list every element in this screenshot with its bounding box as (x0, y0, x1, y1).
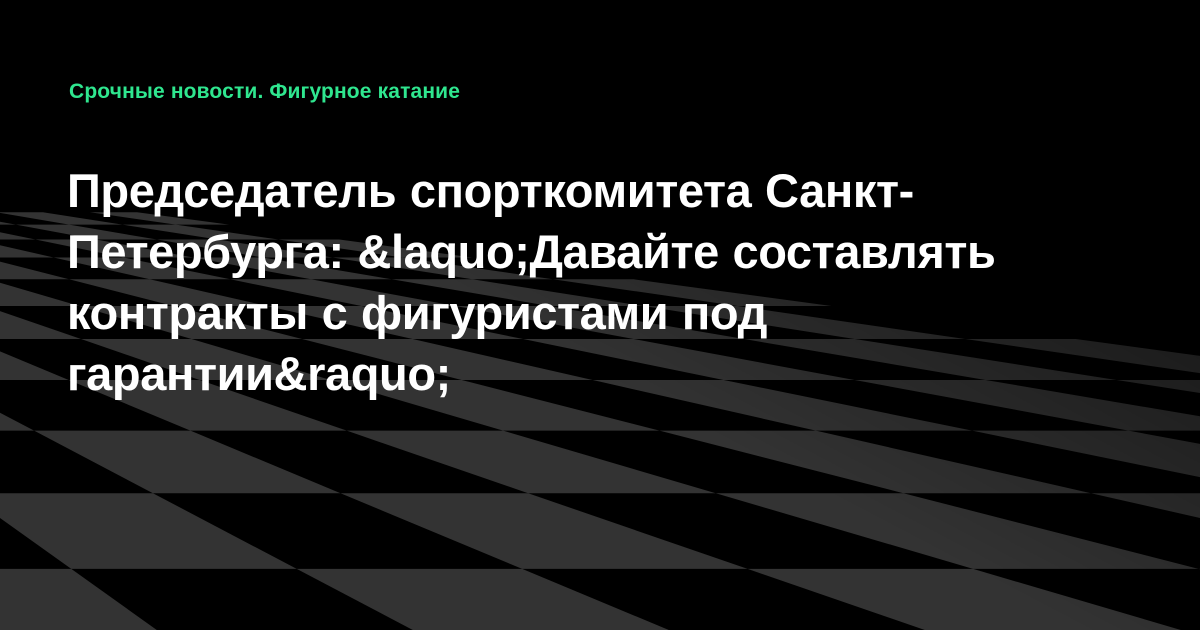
checker-tile (0, 257, 69, 279)
checker-tile (341, 493, 748, 569)
checker-tile (297, 569, 734, 630)
checker-tile (0, 493, 297, 569)
checker-tile (748, 569, 1200, 630)
checker-tile (0, 339, 69, 380)
kicker-label: Срочные новости. Фигурное катание (69, 79, 460, 105)
checker-tile (1091, 493, 1200, 569)
headline: Председатель спорткомитета Санкт-Петербу… (67, 160, 1142, 404)
checker-tile (34, 431, 340, 494)
checker-tile (659, 431, 1091, 494)
checker-tile (0, 240, 54, 258)
checker-tile (0, 380, 34, 431)
checker-tile (716, 493, 1199, 569)
checker-tile (347, 431, 716, 494)
checker-tile (972, 431, 1200, 494)
checker-tile (0, 225, 35, 240)
news-share-card: Срочные новости. Фигурное катание Предсе… (0, 0, 1200, 630)
checker-tile (0, 212, 16, 224)
checker-tile (0, 569, 195, 630)
